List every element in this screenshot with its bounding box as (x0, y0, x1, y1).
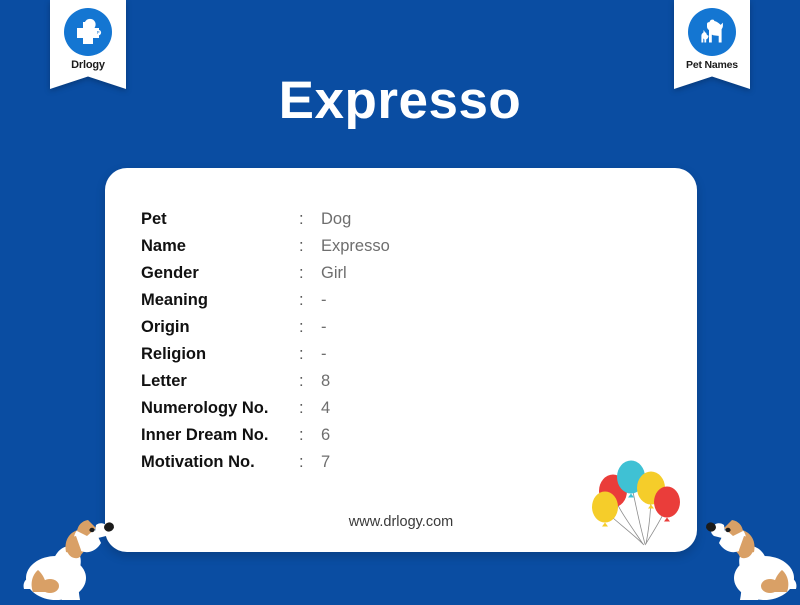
pet-info-table-body: Pet : Dog Name : Expresso Gender : Girl … (141, 210, 390, 480)
row-separator: : (299, 291, 321, 318)
row-separator: : (299, 264, 321, 291)
row-separator: : (299, 453, 321, 480)
table-row: Religion : - (141, 345, 390, 372)
row-label: Origin (141, 318, 299, 345)
row-label: Inner Dream No. (141, 426, 299, 453)
row-value: - (321, 291, 390, 318)
page-title: Expresso (0, 70, 800, 131)
row-value: Expresso (321, 237, 390, 264)
row-value: 6 (321, 426, 390, 453)
table-row: Motivation No. : 7 (141, 453, 390, 480)
row-separator: : (299, 210, 321, 237)
table-row: Name : Expresso (141, 237, 390, 264)
row-separator: : (299, 345, 321, 372)
table-row: Pet : Dog (141, 210, 390, 237)
dog-cat-silhouette-icon (688, 8, 736, 56)
row-label: Pet (141, 210, 299, 237)
row-separator: : (299, 237, 321, 264)
balloon-cluster-icon (579, 448, 689, 552)
table-row: Meaning : - (141, 291, 390, 318)
row-value: 4 (321, 399, 390, 426)
row-separator: : (299, 426, 321, 453)
row-label: Gender (141, 264, 299, 291)
row-separator: : (299, 399, 321, 426)
pet-info-card: Pet : Dog Name : Expresso Gender : Girl … (105, 168, 697, 552)
table-row: Letter : 8 (141, 372, 390, 399)
sitting-dog-icon-right (692, 492, 800, 600)
footer-url[interactable]: www.drlogy.com (105, 514, 697, 530)
row-value: - (321, 318, 390, 345)
row-label: Motivation No. (141, 453, 299, 480)
row-separator: : (299, 372, 321, 399)
table-row: Numerology No. : 4 (141, 399, 390, 426)
row-label: Meaning (141, 291, 299, 318)
drlogy-medical-cross-stethoscope-icon: P (64, 8, 112, 56)
row-value: 7 (321, 453, 390, 480)
sitting-dog-icon-left (16, 492, 128, 600)
row-label: Name (141, 237, 299, 264)
row-value: 8 (321, 372, 390, 399)
row-value: Girl (321, 264, 390, 291)
table-row: Gender : Girl (141, 264, 390, 291)
row-value: - (321, 345, 390, 372)
table-row: Inner Dream No. : 6 (141, 426, 390, 453)
row-separator: : (299, 318, 321, 345)
row-label: Religion (141, 345, 299, 372)
table-row: Origin : - (141, 318, 390, 345)
svg-text:P: P (97, 30, 100, 35)
pet-info-table: Pet : Dog Name : Expresso Gender : Girl … (141, 210, 390, 480)
row-label: Numerology No. (141, 399, 299, 426)
row-value: Dog (321, 210, 390, 237)
row-label: Letter (141, 372, 299, 399)
